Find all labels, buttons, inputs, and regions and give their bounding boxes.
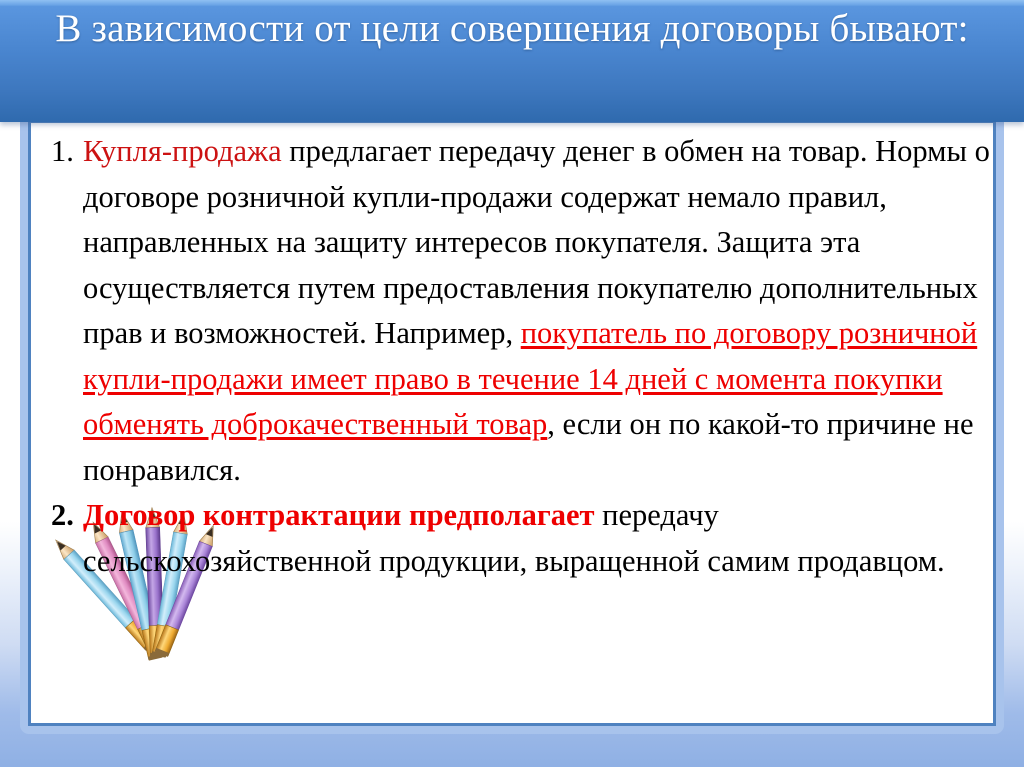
page-title: В зависимости от цели совершения договор… [40,2,984,55]
slide: В зависимости от цели совершения договор… [0,0,1024,767]
item2-highlight-term: Договор контрактации предполагает [83,498,595,532]
title-banner: В зависимости от цели совершения договор… [0,0,1024,122]
item1-highlight-term: Купля-продажа [83,134,282,168]
list-item: 2.Договор контрактации предполагает пере… [51,493,991,584]
list-marker-2: 2. [51,493,74,539]
list-marker-1: 1. [51,129,74,175]
list-item: 1.Купля-продажа предлагает передачу дене… [51,129,991,493]
content-frame: 1.Купля-продажа предлагает передачу дене… [20,112,1004,734]
content-box: 1.Купля-продажа предлагает передачу дене… [28,120,996,726]
body-text: 1.Купля-продажа предлагает передачу дене… [51,129,991,584]
